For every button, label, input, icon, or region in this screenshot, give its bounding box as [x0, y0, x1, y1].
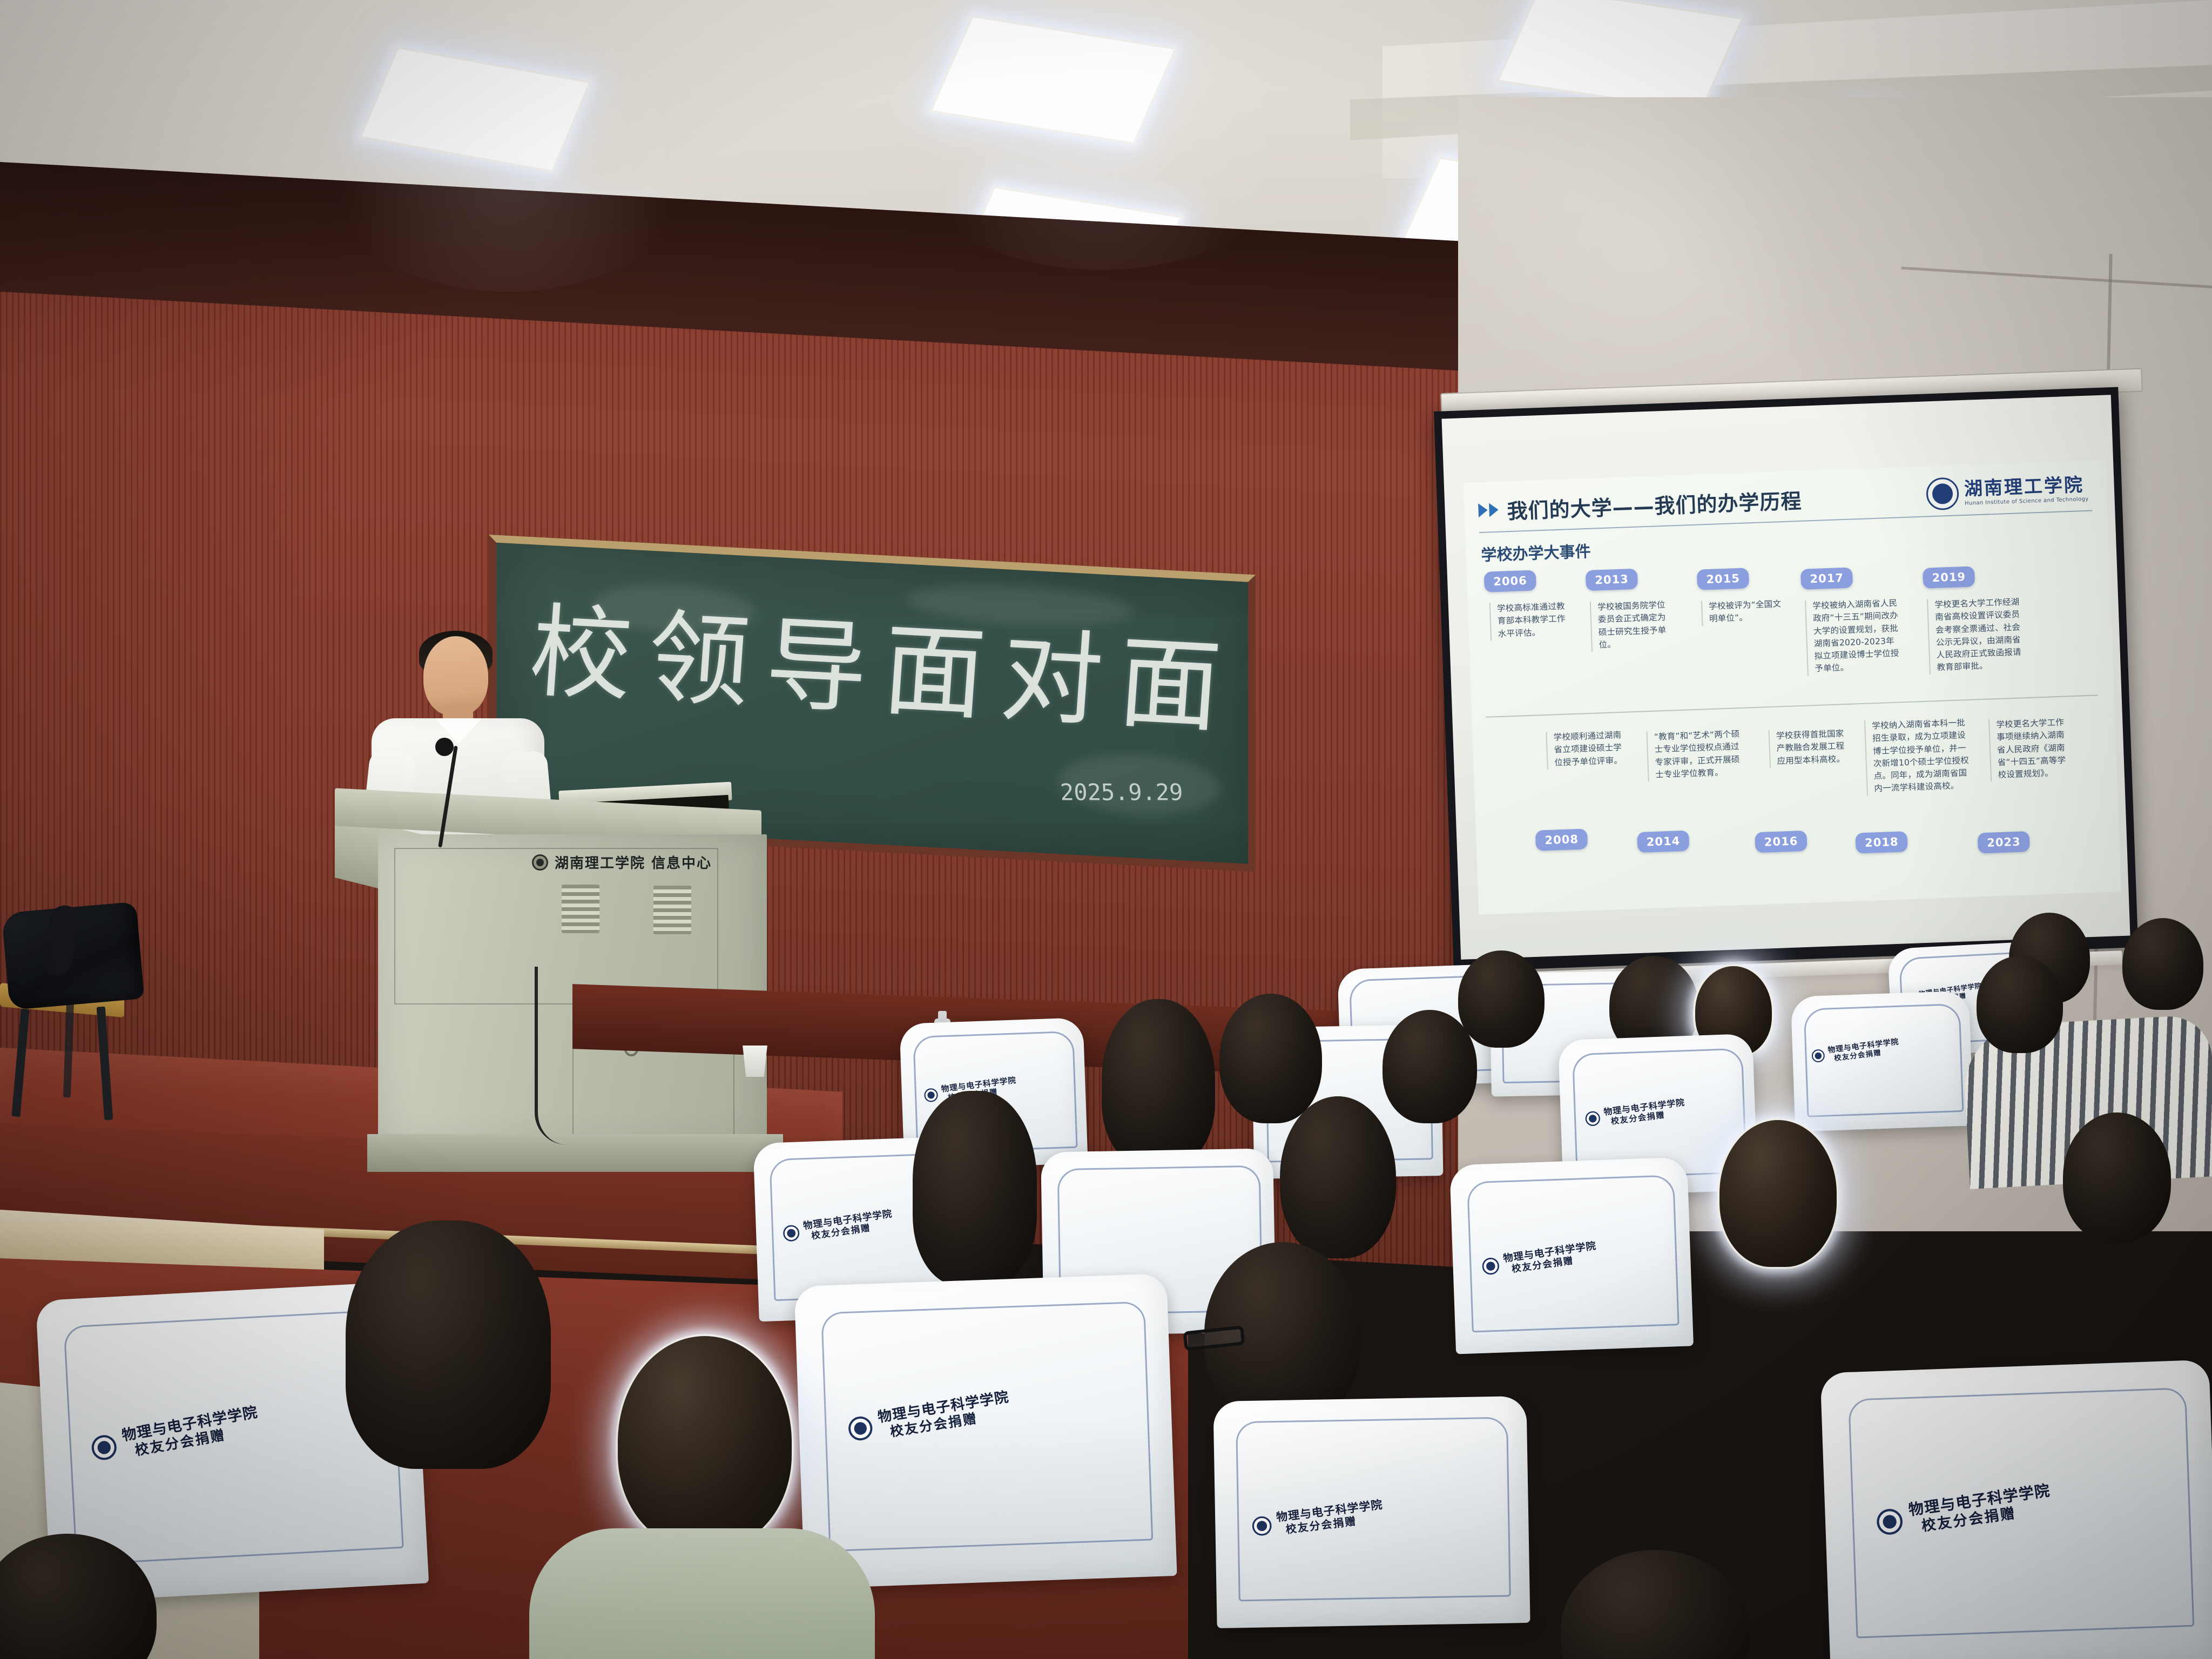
podium-label-text: 湖南理工学院 信息中心 — [555, 852, 712, 872]
audience-head — [346, 1220, 551, 1469]
chair-cover: 物理与电子科学学院校友分会捐赠 — [1820, 1360, 2212, 1659]
audience-head — [1280, 1096, 1396, 1258]
university-seal-icon — [90, 1433, 118, 1462]
timeline: 2006 学校高标准通过教育部本科教学工作水平评估。 2013 学校被国务院学位… — [1481, 550, 2110, 901]
chair-cover-mark: 物理与电子科学学院校友分会捐赠 — [1584, 1097, 1687, 1129]
timeline-axis — [1486, 694, 2098, 718]
double-arrow-icon — [1478, 503, 1499, 517]
timeline-entry: 学校被国务院学位委员会正式确定为硕士研究生授予单位。 — [1590, 598, 1675, 651]
university-seal-icon — [1875, 1507, 1904, 1536]
timeline-entry: 学校获得首批国家产教融合发展工程应用型本科高校。 — [1769, 727, 1853, 768]
audience-area: 物理与电子科学学院校友分会捐赠 物理与电子科学学院校友分会捐赠 物理与电子科学学… — [0, 988, 2212, 1659]
chair-cover-line1: 物理与电子科学学院 — [1907, 1482, 2052, 1520]
timeline-entry-text: 学校更名大学工作经湖南省高校设置评议委员会考察全票通过、社会公示无异议，由湖南省… — [1927, 596, 2026, 675]
slide: 我们的大学——我们的办学历程 湖南理工学院 Hunan Institute of… — [1464, 460, 2121, 915]
university-seal-icon — [1584, 1110, 1601, 1127]
timeline-entry-text: 学校纳入湖南省本科一批招生录取，成为立项建设博士学位授予单位，并一次新增10个硕… — [1864, 717, 1973, 795]
audience-head — [2122, 918, 2203, 1010]
timeline-entry: 学校更名大学工作经湖南省高校设置评议委员会考察全票通过、社会公示无异议，由湖南省… — [1927, 596, 2026, 675]
timeline-entry: “教育”和“艺术”两个硕士专业学位授权点通过专家评审，正式开展硕士专业学位教育。 — [1646, 728, 1744, 781]
projection-screen-surface: 我们的大学——我们的办学历程 湖南理工学院 Hunan Institute of… — [1441, 395, 2130, 960]
audience-head — [1458, 950, 1545, 1048]
chair-cover-line2: 校友分会捐赠 — [1920, 1500, 2054, 1535]
timeline-entry: 学校被评为“全国文明单位”。 — [1701, 598, 1786, 626]
chair-cover-mark: 物理与电子科学学院校友分会捐赠 — [846, 1389, 1013, 1446]
audience-head — [1382, 1010, 1477, 1123]
timeline-year-badge: 2023 — [1978, 831, 2031, 853]
timeline-entry: 学校更名大学工作事项继续纳入湖南省人民政府《湖南省“十四五”高等学校设置规划》。 — [1988, 716, 2074, 782]
timeline-entry-text: 学校被纳入湖南省人民政府“十三五”期间改办大学的设置规划，获批湖南省2020-2… — [1805, 597, 1904, 676]
chair-cover-line2: 校友分会捐赠 — [1610, 1108, 1687, 1127]
timeline-year-badge: 2006 — [1484, 570, 1537, 592]
timeline-year-badge: 2015 — [1697, 568, 1750, 590]
university-seal-icon — [923, 1088, 939, 1103]
logo-name-cn: 湖南理工学院 — [1964, 475, 2088, 498]
blackboard-headline: 校领导面对面 — [525, 570, 1242, 753]
timeline-year-badge: 2014 — [1637, 831, 1690, 853]
chair-cover-line2: 校友分会捐赠 — [889, 1405, 1013, 1440]
chair-cover-mark: 物理与电子科学学院校友分会捐赠 — [1251, 1498, 1385, 1540]
audience-head — [616, 1334, 794, 1550]
chair-cover-line1: 物理与电子科学学院 — [1502, 1240, 1597, 1265]
projection-screen[interactable]: 我们的大学——我们的办学历程 湖南理工学院 Hunan Institute of… — [1434, 387, 2138, 972]
chair-cover-line2: 校友分会捐赠 — [1511, 1252, 1599, 1275]
chair-cover: 物理与电子科学学院校友分会捐赠 — [1791, 990, 1974, 1131]
chair-cover-line1: 物理与电子科学学院 — [802, 1208, 893, 1232]
chair-cover-line1: 物理与电子科学学院 — [1276, 1498, 1384, 1525]
timeline-entry-text: 学校被评为“全国文明单位”。 — [1701, 598, 1786, 626]
timeline-entry: 学校顺利通过湖南省立项建设硕士学位授予单位评审。 — [1546, 729, 1630, 769]
audience-head — [1219, 994, 1322, 1123]
chair-cover-line1: 物理与电子科学学院 — [120, 1404, 259, 1445]
timeline-year-badge: 2017 — [1800, 567, 1853, 589]
timeline-entry: 学校被纳入湖南省人民政府“十三五”期间改办大学的设置规划，获批湖南省2020-2… — [1805, 597, 1904, 676]
chair-cover-mark: 物理与电子科学学院校友分会捐赠 — [782, 1208, 895, 1245]
timeline-entry-text: 学校获得首批国家产教融合发展工程应用型本科高校。 — [1769, 727, 1853, 768]
podium-speaker-grille — [562, 885, 599, 933]
timeline-year-badge: 2019 — [1923, 566, 1975, 588]
chair-cover: 物理与电子科学学院校友分会捐赠 — [794, 1273, 1177, 1589]
audience-head — [1977, 956, 2063, 1053]
timeline-entry-text: 学校被国务院学位委员会正式确定为硕士研究生授予单位。 — [1590, 598, 1675, 651]
slide-header: 我们的大学——我们的办学历程 湖南理工学院 Hunan Institute of… — [1474, 470, 2096, 527]
timeline-entry: 学校纳入湖南省本科一批招生录取，成为立项建设博士学位授予单位，并一次新增10个硕… — [1864, 717, 1973, 795]
chair-cover-line2: 校友分会捐赠 — [1833, 1046, 1900, 1062]
audience-head — [913, 1091, 1037, 1285]
presenter-head — [423, 636, 488, 716]
university-seal-icon — [1481, 1257, 1500, 1276]
university-logo: 湖南理工学院 Hunan Institute of Science and Te… — [1926, 473, 2089, 511]
chair-cover-line1: 物理与电子科学学院 — [1827, 1037, 1899, 1055]
chair-cover-mark: 物理与电子科学学院校友分会捐赠 — [1481, 1240, 1599, 1279]
university-seal-icon — [532, 854, 548, 871]
chair-cover: 物理与电子科学学院校友分会捐赠 — [1213, 1396, 1530, 1628]
audience-head — [1717, 1118, 1839, 1269]
chair-cover-line2: 校友分会捐赠 — [1285, 1512, 1385, 1536]
chair-cover-mark: 物理与电子科学学院校友分会捐赠 — [89, 1404, 262, 1466]
timeline-entry-text: “教育”和“艺术”两个硕士专业学位授权点通过专家评审，正式开展硕士专业学位教育。 — [1646, 728, 1744, 781]
timeline-year-badge: 2018 — [1855, 831, 1908, 853]
university-seal-icon — [1811, 1049, 1826, 1063]
podium-label: 湖南理工学院 信息中心 — [532, 852, 712, 872]
paper-cup — [741, 1046, 769, 1077]
university-seal-icon — [1926, 477, 1959, 510]
microphone-icon — [435, 738, 454, 756]
blackboard-date: 2025.9.29 — [1060, 779, 1184, 805]
audience-shoulders — [529, 1528, 875, 1659]
chair-cover-line1: 物理与电子科学学院 — [876, 1389, 1010, 1426]
chair-cover-line1: 物理与电子科学学院 — [1603, 1097, 1685, 1117]
timeline-year-badge: 2013 — [1586, 569, 1638, 591]
university-seal-icon — [782, 1224, 800, 1243]
timeline-entry: 学校高标准通过教育部本科教学工作水平评估。 — [1489, 600, 1574, 640]
chair-cover-line2: 校友分会捐赠 — [811, 1219, 894, 1242]
slide-title: 我们的大学——我们的办学历程 — [1507, 484, 1803, 524]
timeline-year-badge: 2008 — [1535, 828, 1588, 851]
audience-head — [2063, 1112, 2171, 1242]
university-seal-icon — [1251, 1515, 1273, 1537]
timeline-entry-text: 学校顺利通过湖南省立项建设硕士学位授予单位评审。 — [1546, 729, 1630, 769]
chair-cover: 物理与电子科学学院校友分会捐赠 — [1449, 1157, 1694, 1354]
audience-head — [1102, 999, 1215, 1166]
chair-cover-mark: 物理与电子科学学院校友分会捐赠 — [1811, 1037, 1900, 1065]
podium-speaker-grille — [653, 886, 691, 934]
audience-head — [1561, 1550, 1750, 1659]
timeline-entry-text: 学校高标准通过教育部本科教学工作水平评估。 — [1489, 600, 1574, 640]
chair-cover-line2: 校友分会捐赠 — [133, 1421, 262, 1459]
chair-cover-mark: 物理与电子科学学院校友分会捐赠 — [1874, 1482, 2054, 1541]
timeline-year-badge: 2016 — [1755, 831, 1808, 853]
lecture-hall-scene: 我们的大学——我们的办学历程 湖南理工学院 Hunan Institute of… — [0, 0, 2212, 1659]
university-seal-icon — [847, 1415, 874, 1442]
timeline-entry-text: 学校更名大学工作事项继续纳入湖南省人民政府《湖南省“十四五”高等学校设置规划》。 — [1988, 716, 2074, 782]
